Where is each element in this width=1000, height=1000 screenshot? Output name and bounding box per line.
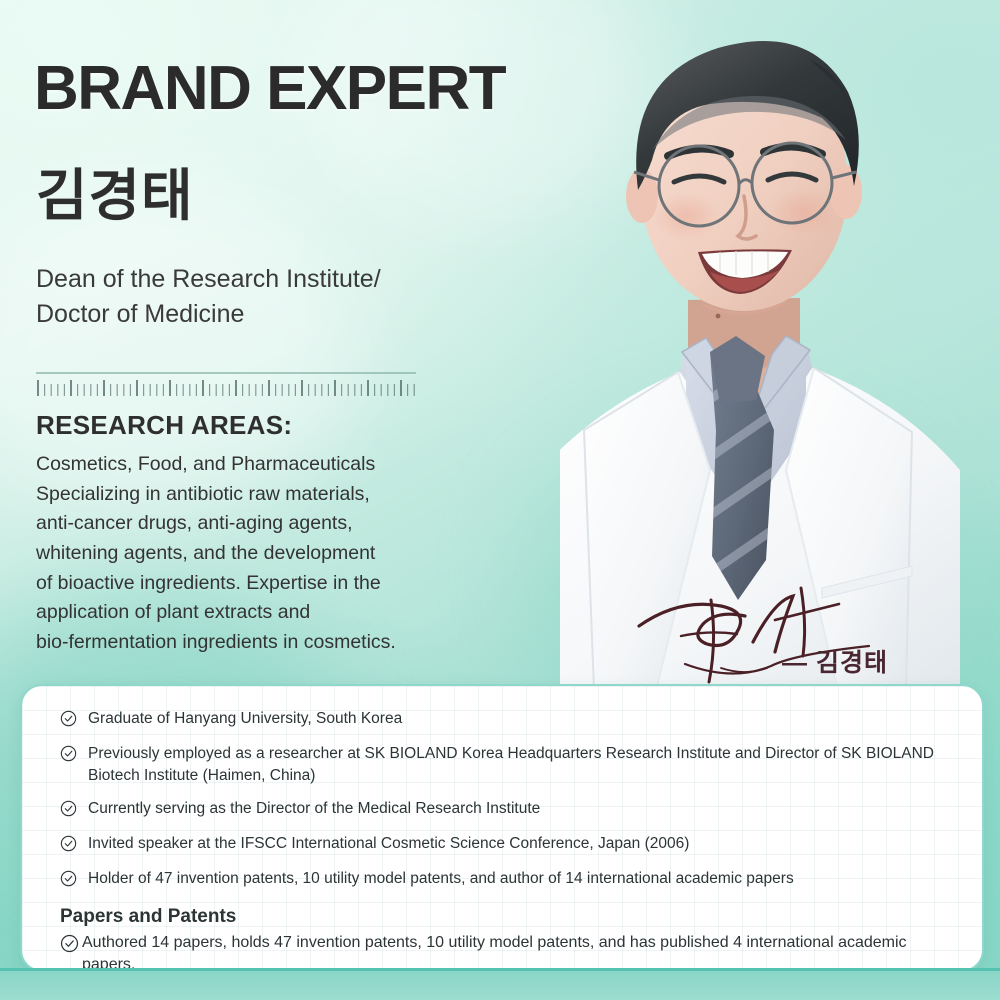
divider <box>36 372 416 374</box>
research-line: application of plant extracts and <box>36 598 406 628</box>
check-circle-icon <box>60 710 77 732</box>
research-line: anti-cancer drugs, anti-aging agents, <box>36 509 406 539</box>
check-circle-icon <box>60 835 77 857</box>
check-circle-icon <box>60 745 77 767</box>
role-line-2: Doctor of Medicine <box>36 297 466 332</box>
research-line: Cosmetics, Food, and Pharmaceuticals <box>36 450 406 480</box>
credential-text: Currently serving as the Director of the… <box>88 798 540 820</box>
papers-and-patents-row: Authored 14 papers, holds 47 invention p… <box>60 932 956 972</box>
signature-name: — 김경태 <box>782 643 888 679</box>
research-line: whitening agents, and the development <box>36 539 406 569</box>
papers-and-patents-heading: Papers and Patents <box>60 906 956 928</box>
credential-item: Graduate of Hanyang University, South Ko… <box>60 708 956 732</box>
page-title: BRAND EXPERT <box>34 58 505 120</box>
expert-role: Dean of the Research Institute/ Doctor o… <box>36 262 466 331</box>
credential-item: Currently serving as the Director of the… <box>60 798 956 822</box>
credentials-card: Graduate of Hanyang University, South Ko… <box>20 684 984 972</box>
credential-item: Holder of 47 invention patents, 10 utili… <box>60 868 956 892</box>
research-line: bio-fermentation ingredients in cosmetic… <box>36 628 406 658</box>
research-line: Specializing in antibiotic raw materials… <box>36 480 406 510</box>
check-circle-icon <box>60 934 79 958</box>
check-circle-icon <box>60 870 77 892</box>
credential-item: Previously employed as a researcher at S… <box>60 743 956 787</box>
research-line: of bioactive ingredients. Expertise in t… <box>36 569 406 599</box>
credential-text: Previously employed as a researcher at S… <box>88 743 956 787</box>
role-line-1: Dean of the Research Institute/ <box>36 262 466 297</box>
footer-strip <box>0 968 1000 1000</box>
check-circle-icon <box>60 800 77 822</box>
poster: — 김경태 BRAND EXPERT 김경태 Dean of the Resea… <box>0 0 1000 1000</box>
ruler-decoration <box>36 378 416 398</box>
credential-item: Invited speaker at the IFSCC Internation… <box>60 833 956 857</box>
credential-text: Invited speaker at the IFSCC Internation… <box>88 833 689 855</box>
credentials-list: Graduate of Hanyang University, South Ko… <box>60 708 956 892</box>
papers-and-patents-text: Authored 14 papers, holds 47 invention p… <box>82 932 956 972</box>
credential-text: Graduate of Hanyang University, South Ko… <box>88 708 402 730</box>
research-areas-heading: RESEARCH AREAS: <box>36 410 292 441</box>
credential-text: Holder of 47 invention patents, 10 utili… <box>88 868 794 890</box>
expert-name-korean: 김경태 <box>36 168 194 224</box>
research-areas-body: Cosmetics, Food, and PharmaceuticalsSpec… <box>36 450 406 657</box>
